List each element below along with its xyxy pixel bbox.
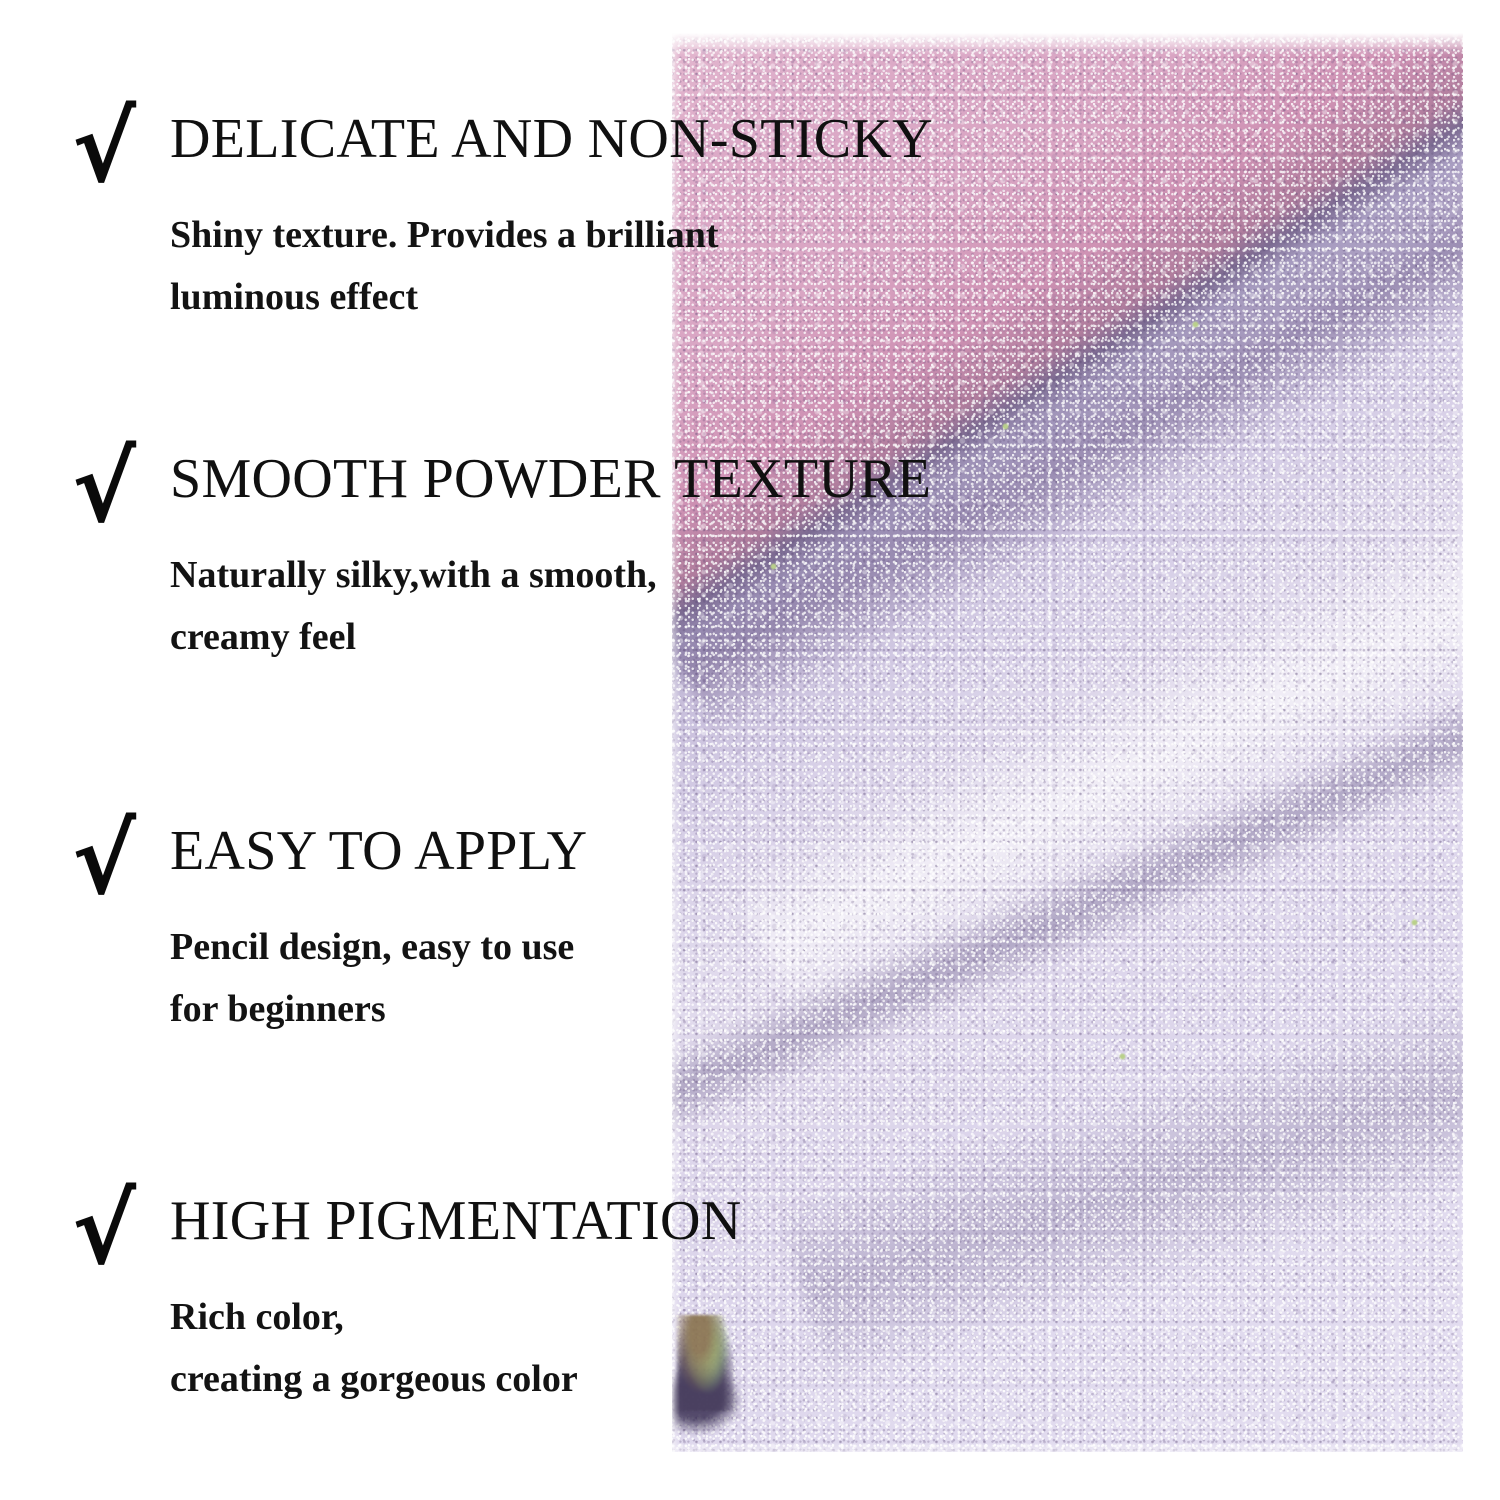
feature-description: Rich color, creating a gorgeous color	[170, 1286, 578, 1410]
feature-list: √ DELICATE AND NON-STICKY Shiny texture.…	[0, 0, 1500, 1500]
check-mark-icon: √	[72, 812, 148, 908]
feature-title: DELICATE AND NON-STICKY	[170, 110, 933, 169]
feature-title: HIGH PIGMENTATION	[170, 1192, 741, 1251]
check-mark-icon: √	[72, 440, 148, 536]
feature-description: Naturally silky,with a smooth, creamy fe…	[170, 544, 657, 668]
feature-title: SMOOTH POWDER TEXTURE	[170, 450, 931, 509]
feature-title: EASY TO APPLY	[170, 822, 587, 881]
check-mark-icon: √	[72, 1182, 148, 1278]
feature-description: Pencil design, easy to use for beginners	[170, 916, 574, 1040]
feature-description: Shiny texture. Provides a brilliant lumi…	[170, 204, 719, 328]
product-feature-infographic: √ DELICATE AND NON-STICKY Shiny texture.…	[0, 0, 1500, 1500]
check-mark-icon: √	[72, 100, 148, 196]
